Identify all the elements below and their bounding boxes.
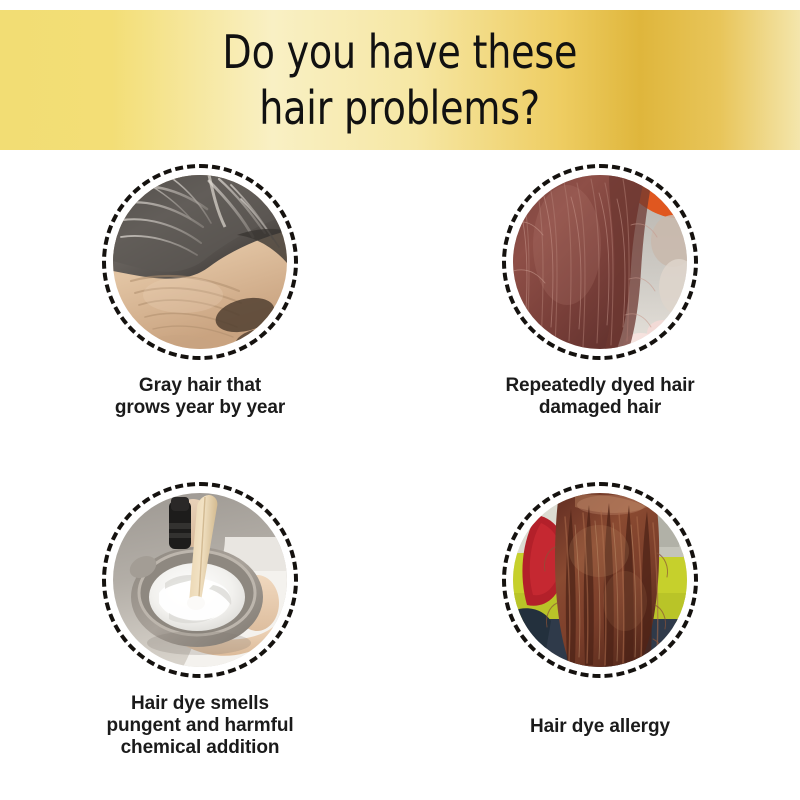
card-caption: Hair dye smells pungent and harmful chem… xyxy=(106,693,293,759)
dashed-circle-border xyxy=(102,164,298,360)
header-banner: Do you have these hair problems? xyxy=(0,10,800,150)
circle-photo-frame xyxy=(102,482,298,678)
dashed-circle-border xyxy=(502,164,698,360)
caption-line: damaged hair xyxy=(505,397,694,419)
problem-card-pungent-smell: Hair dye smells pungent and harmful chem… xyxy=(0,468,400,798)
caption-line: Hair dye allergy xyxy=(530,716,670,738)
problem-card-hair-dye-allergy: Hair dye allergy xyxy=(400,468,800,798)
dashed-circle-border xyxy=(102,482,298,678)
page-title-line-2: hair problems? xyxy=(260,80,541,136)
caption-line: grows year by year xyxy=(115,397,285,419)
problem-card-dyed-damaged-hair: Repeatedly dyed hair damaged hair xyxy=(400,158,800,468)
caption-line: Hair dye smells xyxy=(106,693,293,715)
caption-line: Gray hair that xyxy=(115,375,285,397)
circle-photo-frame xyxy=(502,482,698,678)
caption-line: Repeatedly dyed hair xyxy=(505,375,694,397)
card-caption: Gray hair that grows year by year xyxy=(115,375,285,419)
problem-card-gray-hair: Gray hair that grows year by year xyxy=(0,158,400,468)
caption-line: chemical addition xyxy=(106,737,293,759)
card-caption: Repeatedly dyed hair damaged hair xyxy=(505,375,694,419)
caption-line: pungent and harmful xyxy=(106,715,293,737)
problem-card-grid: Gray hair that grows year by year xyxy=(0,158,800,798)
card-caption: Hair dye allergy xyxy=(530,716,670,738)
page-title-line-1: Do you have these xyxy=(223,24,578,80)
circle-photo-frame xyxy=(502,164,698,360)
dashed-circle-border xyxy=(502,482,698,678)
circle-photo-frame xyxy=(102,164,298,360)
